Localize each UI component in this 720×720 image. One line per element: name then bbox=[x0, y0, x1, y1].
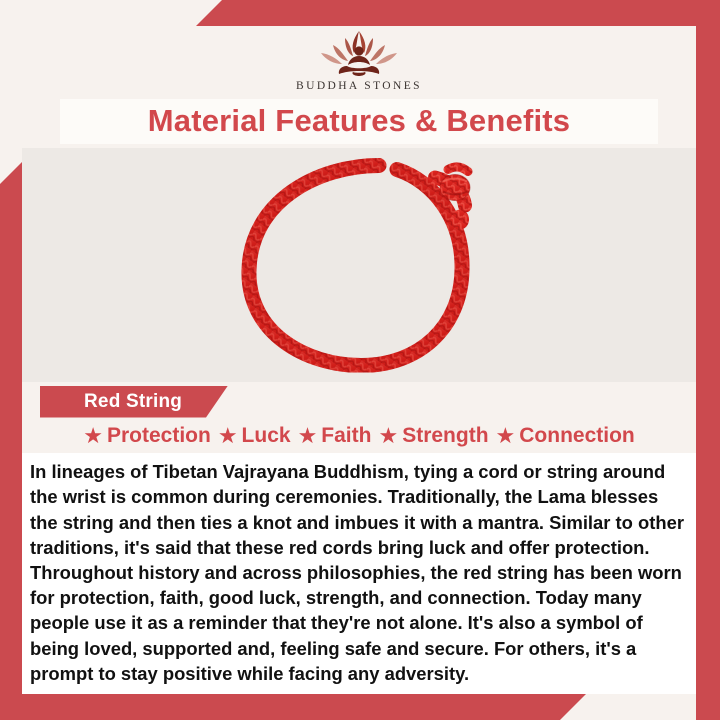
brand-header: BUDDHA STONES bbox=[22, 26, 696, 98]
feature-label: Strength bbox=[402, 424, 488, 448]
star-icon: ★ bbox=[83, 425, 103, 447]
product-tag-row: Red String bbox=[22, 384, 696, 420]
feature-item-strength: ★ Strength bbox=[378, 424, 488, 448]
feature-item-faith: ★ Faith bbox=[298, 424, 372, 448]
frame-band-bottom bbox=[0, 694, 586, 720]
title-banner: Material Features & Benefits bbox=[60, 99, 658, 144]
star-icon: ★ bbox=[218, 425, 238, 447]
description-text: In lineages of Tibetan Vajrayana Buddhis… bbox=[30, 459, 688, 686]
red-string-bracelet-illustration bbox=[229, 157, 489, 372]
page-title: Material Features & Benefits bbox=[148, 103, 571, 139]
feature-item-protection: ★ Protection bbox=[83, 424, 211, 448]
feature-label: Luck bbox=[242, 424, 291, 448]
description-panel: In lineages of Tibetan Vajrayana Buddhis… bbox=[22, 453, 696, 694]
feature-label: Protection bbox=[107, 424, 211, 448]
feature-list: ★ Protection ★ Luck ★ Faith ★ Strength ★… bbox=[22, 419, 696, 453]
feature-label: Connection bbox=[519, 424, 635, 448]
product-tag: Red String bbox=[40, 386, 228, 418]
feature-item-luck: ★ Luck bbox=[218, 424, 291, 448]
frame-band-top bbox=[196, 0, 720, 26]
product-photo bbox=[22, 148, 696, 382]
feature-label: Faith bbox=[321, 424, 371, 448]
frame-band-left bbox=[0, 162, 22, 720]
feature-item-connection: ★ Connection bbox=[496, 424, 635, 448]
brand-name: BUDDHA STONES bbox=[296, 80, 422, 92]
star-icon: ★ bbox=[496, 425, 516, 447]
lotus-meditation-icon bbox=[307, 29, 411, 79]
infographic-page: BUDDHA STONES Material Features & Benefi… bbox=[22, 26, 696, 694]
star-icon: ★ bbox=[378, 425, 398, 447]
product-tag-label: Red String bbox=[84, 391, 182, 413]
star-icon: ★ bbox=[298, 425, 318, 447]
frame-band-right bbox=[696, 26, 720, 720]
